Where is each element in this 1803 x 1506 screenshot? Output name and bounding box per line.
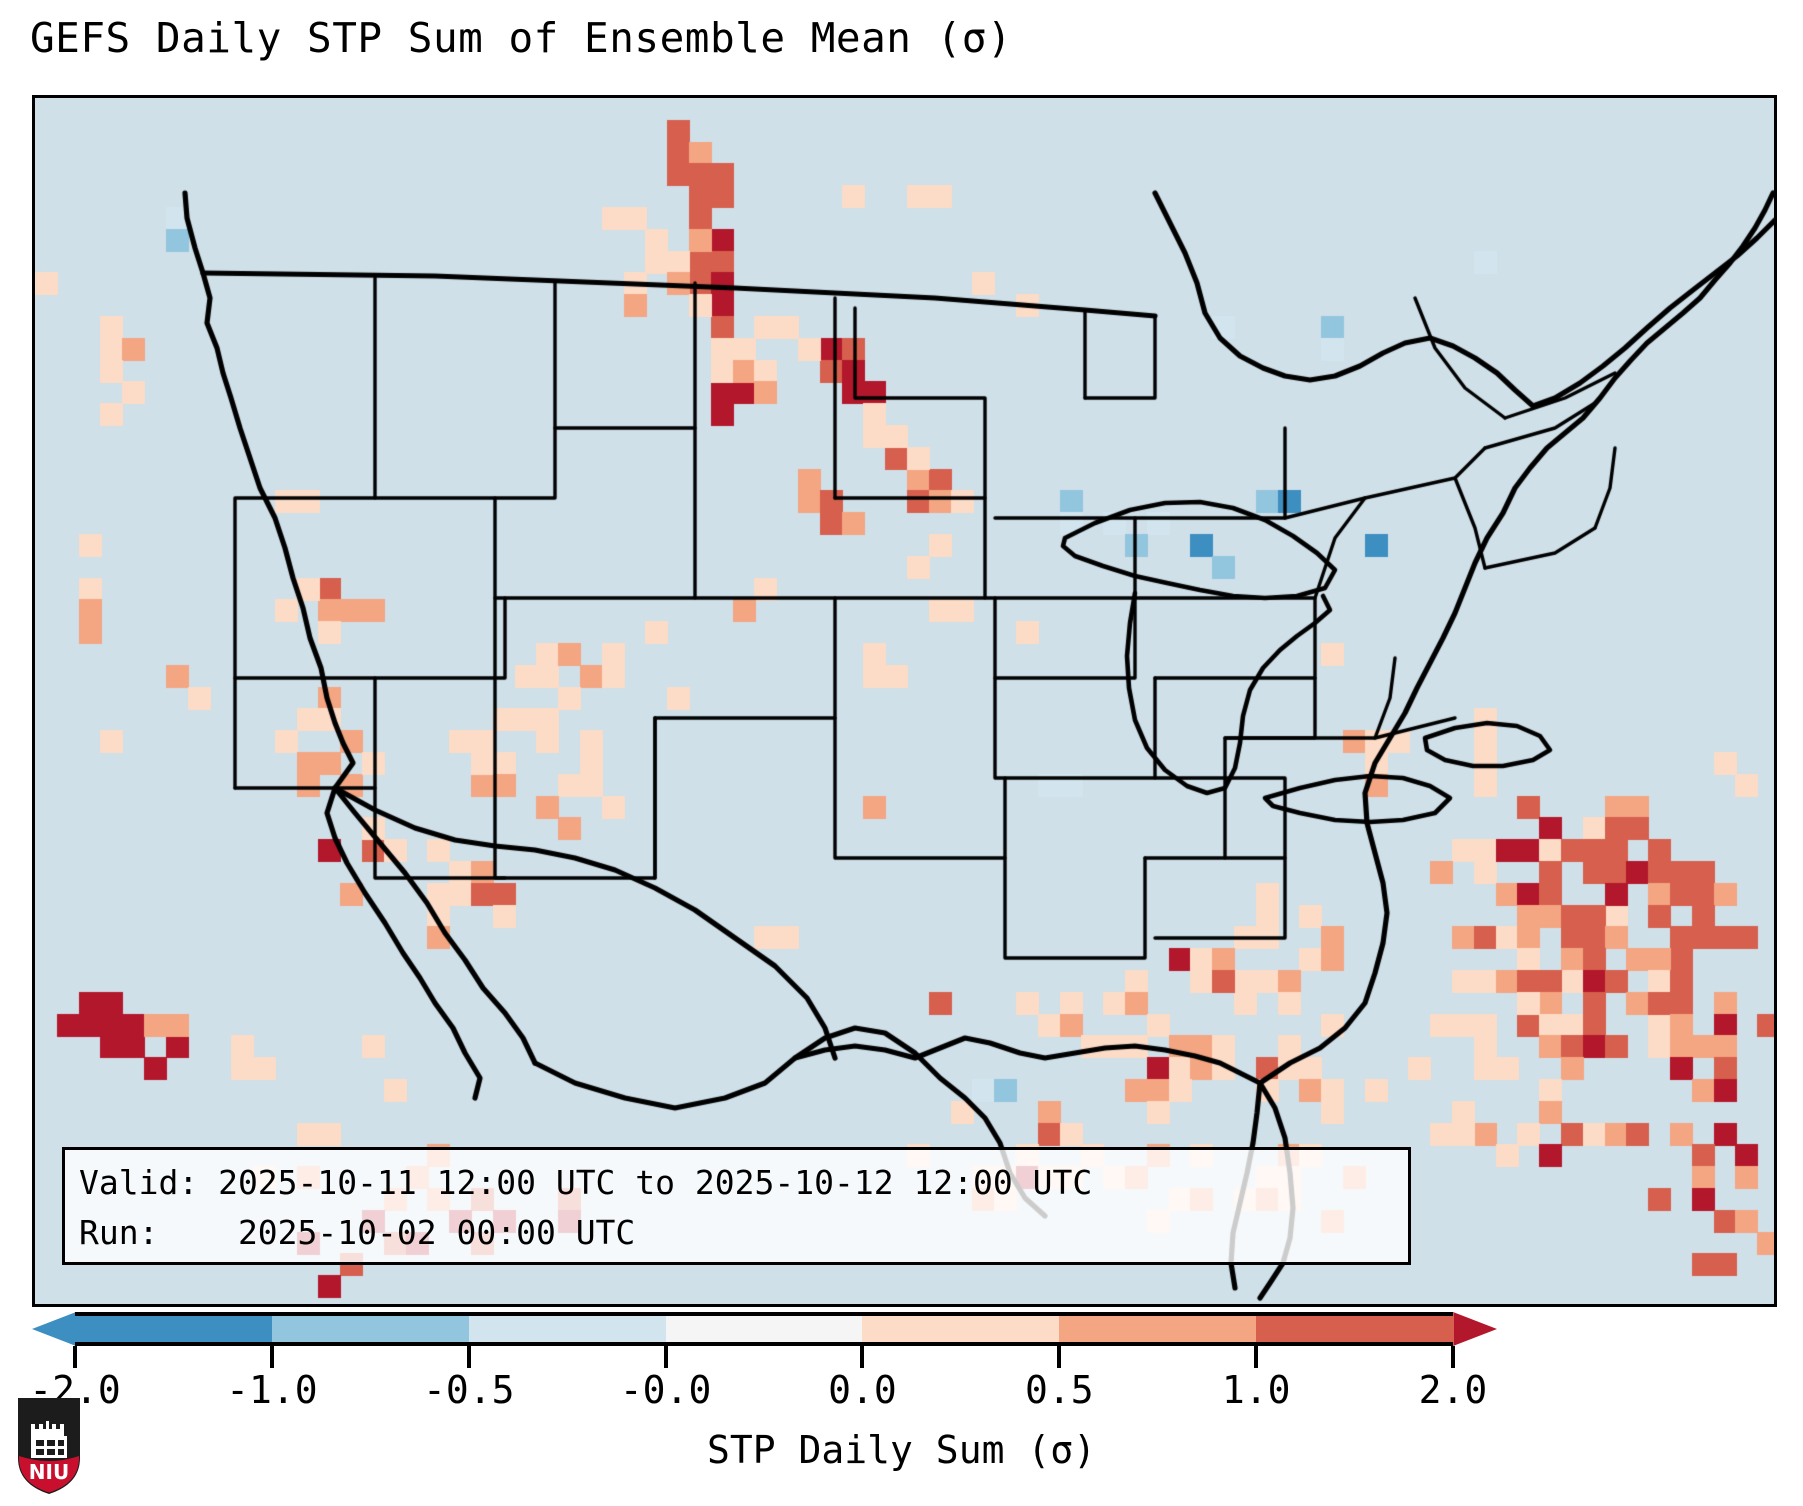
colorbar-tick-label: 1.0 bbox=[1222, 1368, 1291, 1412]
colorbar-tick bbox=[1451, 1346, 1455, 1368]
info-box: Valid: 2025-10-11 12:00 UTC to 2025-10-1… bbox=[62, 1147, 1411, 1265]
colorbar-tick bbox=[467, 1346, 471, 1368]
map-panel[interactable] bbox=[32, 95, 1777, 1307]
figure-root: GEFS Daily STP Sum of Ensemble Mean (σ) … bbox=[0, 0, 1803, 1506]
colorbar-over-arrow bbox=[1453, 1312, 1497, 1346]
colorbar-tick-label: 0.0 bbox=[828, 1368, 897, 1412]
colorbar-tick-label: 2.0 bbox=[1419, 1368, 1488, 1412]
colorbar-tick-label: -1.0 bbox=[226, 1368, 318, 1412]
colorbar-tick bbox=[1057, 1346, 1061, 1368]
valid-time-line: Valid: 2025-10-11 12:00 UTC to 2025-10-1… bbox=[79, 1158, 1394, 1208]
page-title: GEFS Daily STP Sum of Ensemble Mean (σ) bbox=[30, 14, 1012, 62]
colorbar-tick bbox=[270, 1346, 274, 1368]
colorbar-tick-label: -0.5 bbox=[423, 1368, 515, 1412]
niu-shield-icon: NIU bbox=[14, 1396, 84, 1496]
colorbar-under-arrow bbox=[32, 1312, 76, 1346]
niu-logo[interactable]: NIU bbox=[14, 1396, 84, 1496]
colorbar-tick bbox=[73, 1346, 77, 1368]
colorbar-tick-label: -0.0 bbox=[620, 1368, 712, 1412]
colorbar-tick-label: 0.5 bbox=[1025, 1368, 1094, 1412]
colorbar-tick-labels: -2.0-1.0-0.5-0.00.00.51.02.0 bbox=[0, 1368, 1803, 1418]
niu-logo-text: NIU bbox=[29, 1460, 69, 1484]
colorbar-tick bbox=[860, 1346, 864, 1368]
colorbar-tick bbox=[1254, 1346, 1258, 1368]
colorbar[interactable] bbox=[0, 1312, 1803, 1372]
colorbar-tick bbox=[664, 1346, 668, 1368]
colorbar-ticks bbox=[0, 1346, 1803, 1368]
run-time-line: Run: 2025-10-02 00:00 UTC bbox=[79, 1208, 1394, 1258]
colorbar-outline bbox=[75, 1312, 1453, 1346]
colorbar-axis-label: STP Daily Sum (σ) bbox=[0, 1428, 1803, 1472]
geographic-borders-layer bbox=[35, 98, 1774, 1304]
